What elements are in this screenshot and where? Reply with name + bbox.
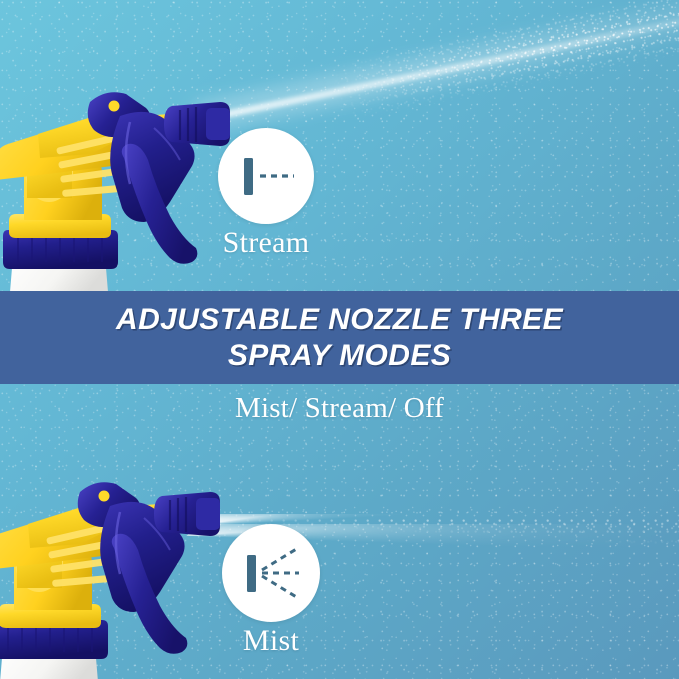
spray-bottle-illustration — [0, 452, 234, 679]
subtitle-modes: Mist/ Stream/ Off — [0, 392, 679, 425]
mist-spray-icon — [222, 524, 320, 622]
product-infographic: Stream ADJUSTABLE NOZZLE THREE SPRAY MOD… — [0, 0, 679, 679]
mode-badge-stream: Stream — [218, 128, 314, 261]
mode-badge-mist: Mist — [222, 524, 320, 659]
headline-line-2: SPRAY MODES — [228, 338, 451, 373]
stream-badge-circle — [218, 128, 314, 224]
stream-spray-icon — [218, 128, 314, 224]
stream-spray-plume — [196, 18, 679, 130]
stream-jet-droplets — [324, 0, 679, 124]
stream-jet-core — [195, 17, 679, 124]
mist-badge-circle — [222, 524, 320, 622]
stream-jet-halo — [193, 2, 679, 133]
spray-bottle-top — [0, 62, 244, 297]
spray-bottle-bottom — [0, 452, 234, 679]
stream-badge-label: Stream — [218, 226, 314, 261]
headline-banner: ADJUSTABLE NOZZLE THREE SPRAY MODES — [0, 291, 679, 384]
spray-bottle-illustration — [0, 62, 244, 292]
headline-line-1: ADJUSTABLE NOZZLE THREE — [116, 302, 563, 337]
mist-badge-label: Mist — [222, 624, 320, 659]
